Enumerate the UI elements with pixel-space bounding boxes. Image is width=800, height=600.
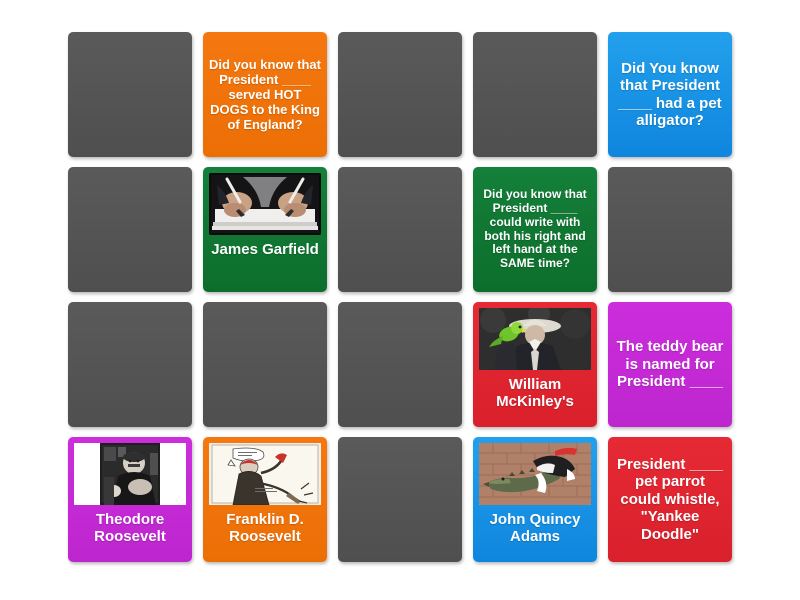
answer-tile-2-2[interactable]: James Garfield — [203, 167, 327, 292]
hidden-tile-1-1[interactable] — [68, 32, 192, 157]
hidden-tile-3-3[interactable] — [338, 302, 462, 427]
hidden-tile-2-1[interactable] — [68, 167, 192, 292]
question-tile-1-5[interactable]: Did You know that President ____ had a p… — [608, 32, 732, 157]
hidden-tile-1-3[interactable] — [338, 32, 462, 157]
political-cartoon-art — [209, 443, 321, 505]
answer-tile-4-4[interactable]: John Quincy Adams — [473, 437, 597, 562]
question-tile-2-4[interactable]: Did you know that President ____ could w… — [473, 167, 597, 292]
answer-tile-4-2[interactable]: Franklin D. Roosevelt — [203, 437, 327, 562]
tile-image-hands-writing-mirrored — [209, 173, 321, 235]
matching-game-board: Did you know that President ____ served … — [0, 0, 800, 600]
tile-image-man-with-parrot — [479, 308, 591, 370]
question-tile-3-5[interactable]: The teddy bear is named for President __… — [608, 302, 732, 427]
alligator-on-bricks-art — [479, 443, 591, 505]
tile-question-text: President ____ pet parrot could whistle,… — [613, 456, 727, 543]
tile-image-alligator-on-bricks — [479, 443, 591, 505]
man-with-parrot-art — [479, 308, 591, 370]
tile-answer-label: Franklin D. Roosevelt — [208, 512, 322, 546]
roosevelt-photo-art — [74, 443, 186, 505]
tile-question-text: Did you know that President ____ could w… — [478, 188, 592, 271]
tile-question-text: Did You know that President ____ had a p… — [613, 60, 727, 130]
question-tile-4-5[interactable]: President ____ pet parrot could whistle,… — [608, 437, 732, 562]
tile-question-text: The teddy bear is named for President __… — [613, 338, 727, 390]
question-tile-1-2[interactable]: Did you know that President ____ served … — [203, 32, 327, 157]
hands-writing-mirrored-art — [209, 173, 321, 235]
answer-tile-4-1[interactable]: Theodore Roosevelt — [68, 437, 192, 562]
hidden-tile-4-3[interactable] — [338, 437, 462, 562]
hidden-tile-2-5[interactable] — [608, 167, 732, 292]
hidden-tile-1-4[interactable] — [473, 32, 597, 157]
hidden-tile-3-1[interactable] — [68, 302, 192, 427]
answer-tile-3-4[interactable]: William McKinley's — [473, 302, 597, 427]
tile-answer-label: Theodore Roosevelt — [73, 512, 187, 546]
hidden-tile-2-3[interactable] — [338, 167, 462, 292]
tile-answer-label: John Quincy Adams — [478, 512, 592, 546]
hidden-tile-3-2[interactable] — [203, 302, 327, 427]
tile-question-text: Did you know that President ____ served … — [208, 57, 322, 132]
tile-answer-label: James Garfield — [208, 242, 322, 259]
tile-image-roosevelt-photo — [74, 443, 186, 505]
tile-answer-label: William McKinley's — [478, 377, 592, 411]
tile-image-political-cartoon — [209, 443, 321, 505]
